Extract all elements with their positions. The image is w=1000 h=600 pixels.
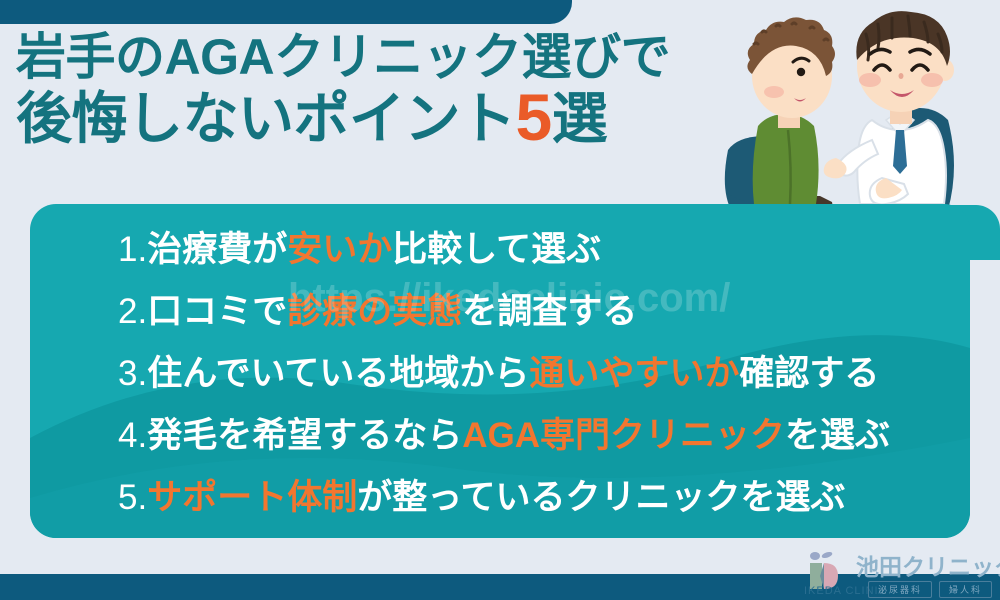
list-item-emphasis: サポート体制 [147,478,357,517]
list-item-post: 比較して選ぶ [392,230,601,269]
list-item-post: を選ぶ [785,416,890,455]
list-item: 2.口コミで診療の実態を調査する [118,294,637,329]
list-item-number: 4. [118,416,147,455]
list-item-number: 3. [118,354,147,393]
page-title-line-2-pre: 後悔しないポイント [16,87,516,150]
poster-canvas: 岩手のAGAクリニック選びで 後悔しないポイント5選 [0,0,1000,600]
page-title: 岩手のAGAクリニック選びで 後悔しないポイント5選 [16,30,716,149]
list-item-number: 2. [118,292,147,331]
clinic-logo-tag: 泌尿器科 [868,581,932,598]
list-item: 3.住んでいている地域から通いやすいか確認する [118,356,879,391]
list-item-emphasis: 通いやすいか [529,354,739,393]
list-item-number: 5. [118,478,147,517]
list-item-post: を調査する [462,292,637,331]
list-item: 1.治療費が安いか比較して選ぶ [118,232,601,267]
clinic-logo-tags: 泌尿器科 婦人科 [868,581,992,598]
page-title-accent-number: 5 [516,80,552,154]
list-item-pre: 治療費が [147,230,287,269]
points-panel: 1.治療費が安いか比較して選ぶ 2.口コミで診療の実態を調査する 3.住んでいて… [30,204,970,538]
clinic-logo-tag: 婦人科 [939,581,992,598]
clinic-logo-mark-icon [808,550,848,590]
top-accent-bar [0,0,572,24]
clinic-logo: 池田クリニック IKEDA CLINIC 泌尿器科 婦人科 [804,546,994,598]
page-title-line-2: 後悔しないポイント5選 [16,88,716,149]
list-item-emphasis: 安いか [287,230,392,269]
points-panel-inner: 1.治療費が安いか比較して選ぶ 2.口コミで診療の実態を調査する 3.住んでいて… [30,204,970,538]
list-item-pre: 発毛を希望するなら [147,416,462,455]
list-item-emphasis: 診療の実態 [287,292,462,331]
list-item-number: 1. [118,230,147,269]
list-item-pre: 口コミで [147,292,287,331]
list-item-post: 確認する [739,354,879,393]
list-item: 4.発毛を希望するならAGA専門クリニックを選ぶ [118,418,890,453]
list-item-post: が整っているクリニックを選ぶ [357,478,845,517]
list-item-pre: 住んでいている地域から [147,354,529,393]
list-item-emphasis: AGA専門クリニック [462,416,785,455]
page-title-line-1: 岩手のAGAクリニック選びで [16,30,716,84]
list-item: 5.サポート体制が整っているクリニックを選ぶ [118,480,845,515]
page-title-line-2-post: 選 [552,87,608,150]
clinic-logo-name: 池田クリニック [856,548,1000,582]
